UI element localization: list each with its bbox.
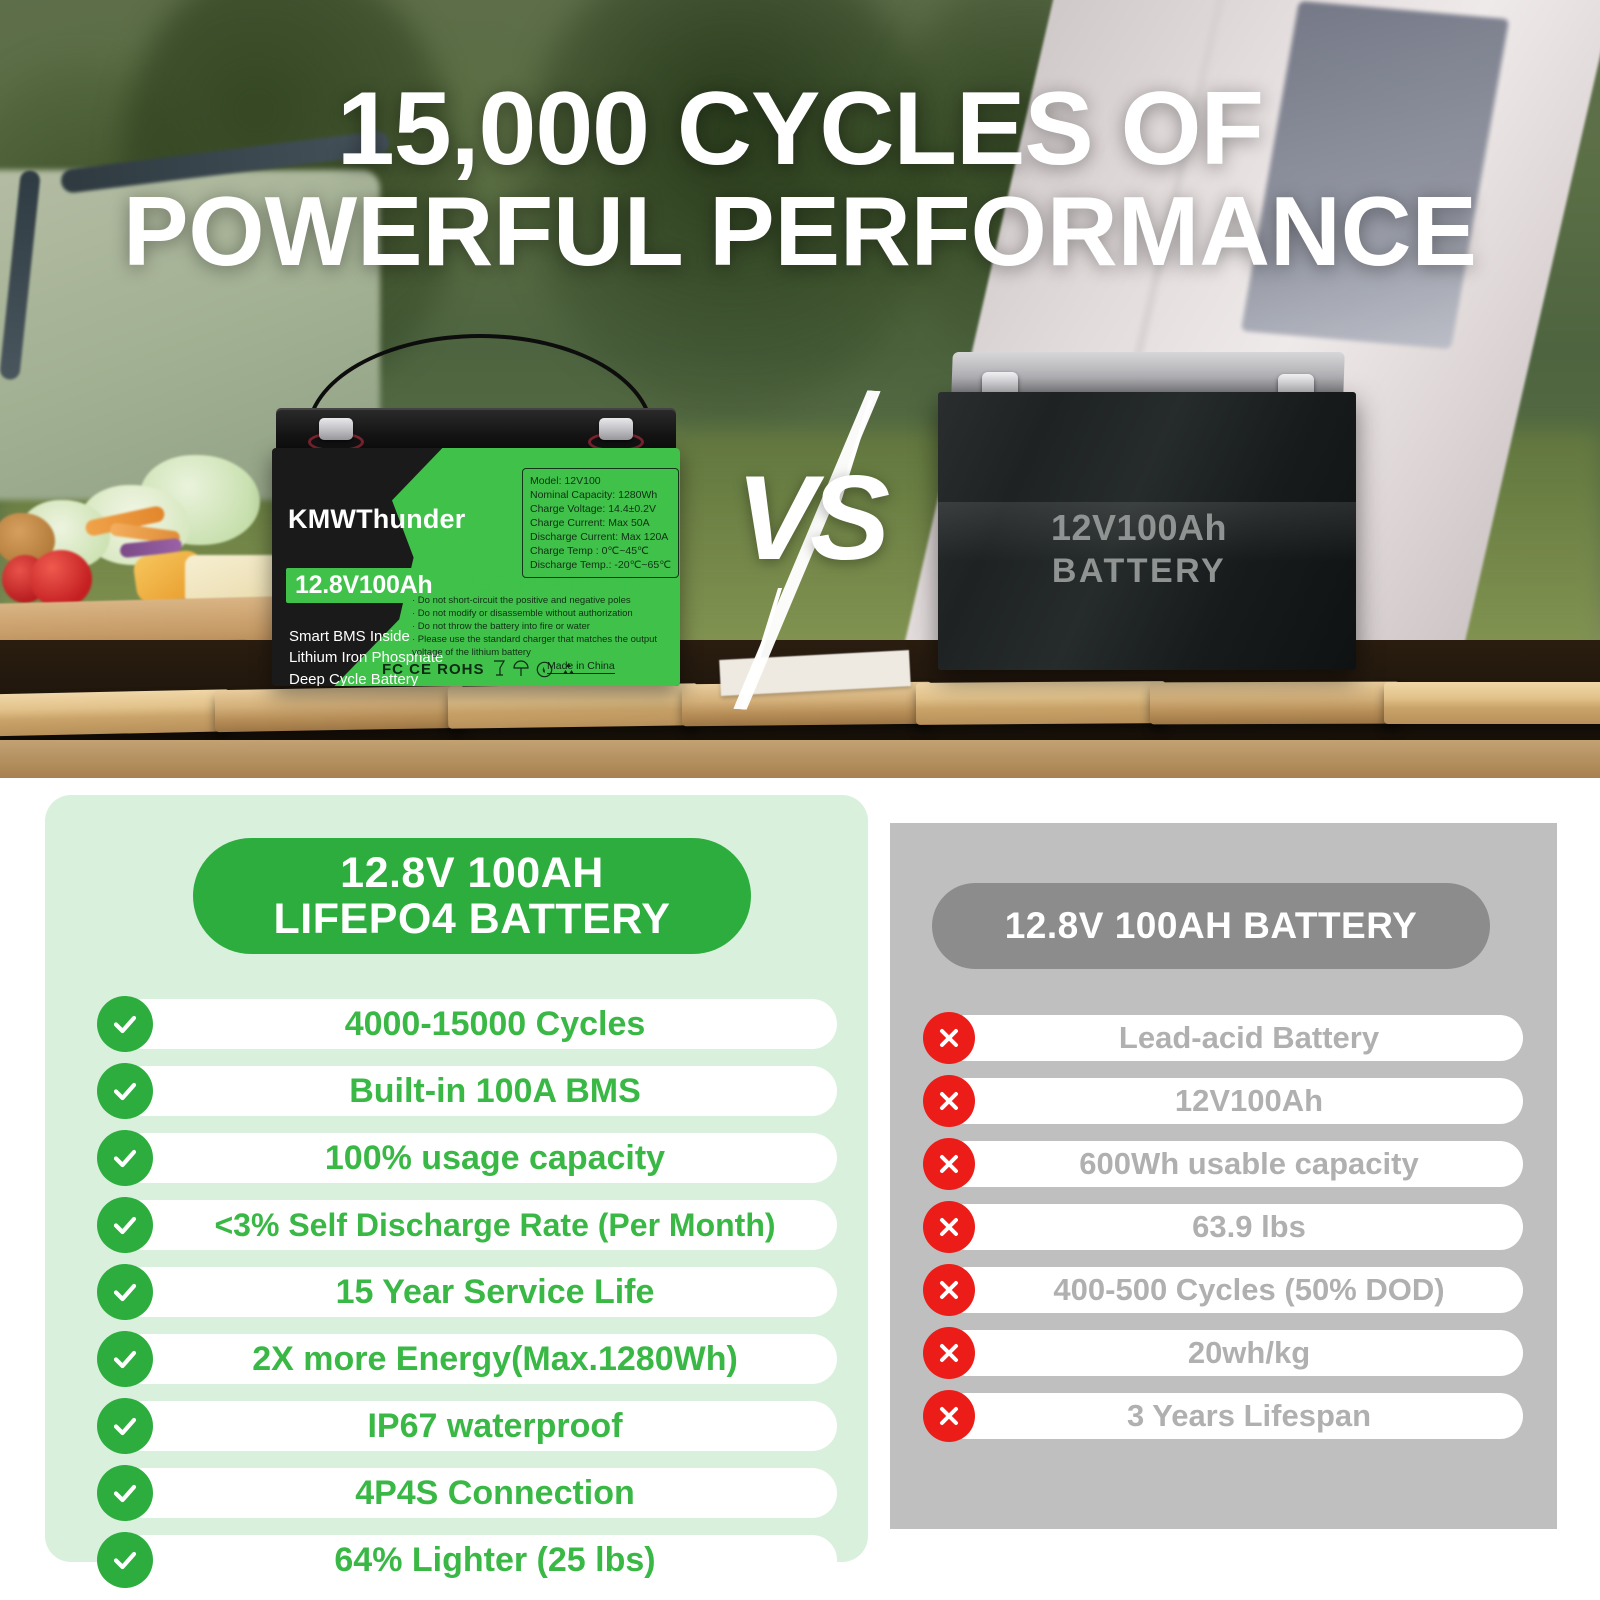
lifepo4-title-line-2: LIFEPO4 BATTERY: [274, 896, 671, 942]
check-icon: [97, 1264, 153, 1320]
list-item-label: 20wh/kg: [975, 1335, 1523, 1371]
list-item-label: 400-500 Cycles (50% DOD): [975, 1272, 1523, 1308]
table-slat: [215, 686, 466, 732]
list-item: 4000-15000 Cycles: [97, 995, 837, 1053]
list-item-label: Lead-acid Battery: [975, 1020, 1523, 1056]
list-item-label: 63.9 lbs: [975, 1209, 1523, 1245]
lead-battery-spec-line2: BATTERY: [930, 552, 1348, 591]
lifepo4-battery-photo: KMWThunder 12.8V100Ah LiFePO4 Battery Sm…: [272, 408, 680, 686]
cross-icon: [923, 1264, 975, 1316]
table-slat: [448, 683, 699, 728]
list-item-label: 2X more Energy(Max.1280Wh): [153, 1340, 837, 1379]
check-icon: [97, 1063, 153, 1119]
warning-triangle-icon: [457, 566, 487, 591]
list-item-label: 15 Year Service Life: [153, 1273, 837, 1312]
lead-acid-feature-list: Lead-acid Battery 12V100Ah 600Wh usable …: [923, 1011, 1523, 1452]
table-slat: [0, 689, 230, 736]
lead-acid-comparison-panel: 12.8V 100AH BATTERY Lead-acid Battery 12…: [890, 823, 1557, 1529]
spec-line: Charge Current: Max 50A: [530, 516, 671, 530]
cross-icon: [923, 1138, 975, 1190]
vs-label: VS: [736, 458, 884, 578]
list-item: Built-in 100A BMS: [97, 1062, 837, 1120]
lead-acid-panel-title: 12.8V 100AH BATTERY: [932, 883, 1490, 969]
list-item-label: 4P4S Connection: [153, 1474, 837, 1513]
check-icon: [97, 1465, 153, 1521]
list-item-label: <3% Self Discharge Rate (Per Month): [153, 1207, 837, 1244]
list-item: 12V100Ah: [923, 1074, 1523, 1128]
check-icon: [97, 1331, 153, 1387]
list-item-label: 64% Lighter (25 lbs): [153, 1541, 837, 1580]
battery-warning-text: · Do not short-circuit the positive and …: [412, 594, 657, 660]
cross-icon: [923, 1201, 975, 1253]
warning-line: · Please use the standard charger that m…: [412, 633, 657, 646]
table-slat: [916, 681, 1166, 725]
versus-graphic: VS: [700, 400, 930, 700]
list-item: 64% Lighter (25 lbs): [97, 1531, 837, 1589]
list-item-label: IP67 waterproof: [153, 1407, 837, 1446]
list-item: Lead-acid Battery: [923, 1011, 1523, 1065]
battery-body: KMWThunder 12.8V100Ah LiFePO4 Battery Sm…: [272, 448, 680, 686]
hero-photo: KMWThunder 12.8V100Ah LiFePO4 Battery Sm…: [0, 0, 1600, 778]
list-item: <3% Self Discharge Rate (Per Month): [97, 1196, 837, 1254]
headline-line-1: 15,000 CYCLES OF: [337, 71, 1263, 187]
lifepo4-title-line-1: 12.8V 100AH: [274, 850, 671, 896]
spec-line: Charge Voltage: 14.4±0.2V: [530, 502, 671, 516]
cross-icon: [923, 1327, 975, 1379]
list-item: IP67 waterproof: [97, 1397, 837, 1455]
check-icon: [97, 1197, 153, 1253]
list-item-label: 100% usage capacity: [153, 1139, 837, 1178]
table-slat: [0, 740, 1600, 778]
check-icon: [97, 1398, 153, 1454]
battery-brand: KMWThunder: [288, 504, 465, 535]
list-item-label: Built-in 100A BMS: [153, 1072, 837, 1111]
list-item: 2X more Energy(Max.1280Wh): [97, 1330, 837, 1388]
list-item-label: 600Wh usable capacity: [975, 1146, 1523, 1182]
battery-origin: Made in China: [547, 660, 615, 674]
list-item-label: 4000-15000 Cycles: [153, 1005, 837, 1044]
list-item: 600Wh usable capacity: [923, 1137, 1523, 1191]
list-item: 20wh/kg: [923, 1326, 1523, 1380]
hero-headline: 15,000 CYCLES OF POWERFUL PERFORMANCE: [0, 76, 1600, 282]
list-item-label: 3 Years Lifespan: [975, 1398, 1523, 1434]
list-item: 400-500 Cycles (50% DOD): [923, 1263, 1523, 1317]
warning-line: · Do not short-circuit the positive and …: [412, 594, 657, 607]
lightning-spark-icon: [741, 588, 782, 708]
product-comparison-infographic: KMWThunder 12.8V100Ah LiFePO4 Battery Sm…: [0, 0, 1600, 1600]
table-slat: [1150, 682, 1400, 725]
headline-line-2: POWERFUL PERFORMANCE: [0, 182, 1600, 282]
list-item: 63.9 lbs: [923, 1200, 1523, 1254]
fragile-glass-icon: [492, 660, 506, 678]
list-item-label: 12V100Ah: [975, 1083, 1523, 1119]
spec-line: Charge Temp : 0℃~45℃: [530, 544, 671, 558]
warning-line: · Do not throw the battery into fire or …: [412, 620, 657, 633]
cross-icon: [923, 1075, 975, 1127]
certification-marks: FC CE ROHS: [382, 661, 485, 678]
salad-plate: [0, 455, 290, 615]
table-slat: [1384, 682, 1600, 724]
lead-acid-battery-photo: 12V100Ah BATTERY: [930, 352, 1360, 670]
spec-line: Model: 12V100: [530, 474, 671, 488]
spec-line: Discharge Temp.: -20℃~65℃: [530, 558, 671, 572]
battery-spec-box: Model: 12V100 Nominal Capacity: 1280Wh C…: [522, 468, 679, 578]
cross-icon: [923, 1390, 975, 1442]
umbrella-keep-dry-icon: [513, 660, 529, 678]
lifepo4-comparison-panel: 12.8V 100AH LIFEPO4 BATTERY 4000-15000 C…: [45, 795, 868, 1562]
list-item: 15 Year Service Life: [97, 1263, 837, 1321]
battery-terminal-negative: [319, 418, 353, 440]
list-item: 3 Years Lifespan: [923, 1389, 1523, 1443]
list-item: 4P4S Connection: [97, 1464, 837, 1522]
warning-line: voltage of the lithium battery: [412, 646, 657, 659]
lead-battery-spec-line1: 12V100Ah: [930, 507, 1348, 549]
check-icon: [97, 996, 153, 1052]
spec-line: Discharge Current: Max 120A: [530, 530, 671, 544]
list-item: 100% usage capacity: [97, 1129, 837, 1187]
check-icon: [97, 1130, 153, 1186]
check-icon: [97, 1532, 153, 1588]
spec-line: Nominal Capacity: 1280Wh: [530, 488, 671, 502]
cross-icon: [923, 1012, 975, 1064]
warning-line: · Do not modify or disassemble without a…: [412, 607, 657, 620]
lifepo4-feature-list: 4000-15000 Cycles Built-in 100A BMS 100%…: [97, 995, 837, 1598]
cherry-tomato: [30, 550, 92, 608]
battery-terminal-positive: [599, 418, 633, 440]
lifepo4-panel-title: 12.8V 100AH LIFEPO4 BATTERY: [193, 838, 751, 954]
